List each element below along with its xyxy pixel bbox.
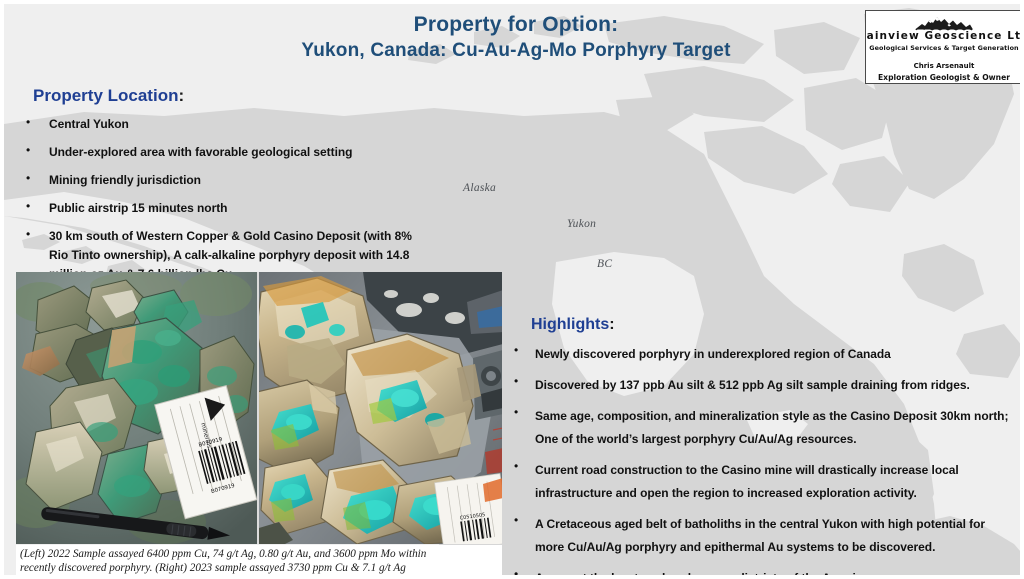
list-item-label: Mining friendly jurisdiction: [49, 171, 426, 190]
highlights-list: • Newly discovered porphyry in underexpl…: [514, 343, 1014, 579]
bullet-icon: •: [514, 567, 526, 579]
list-item: • Newly discovered porphyry in underexpl…: [514, 343, 1014, 366]
list-item-label: Under-explored area with favorable geolo…: [49, 143, 426, 162]
bullet-icon: •: [514, 459, 526, 473]
rock-sample-photo-left: minerals B070919 B070919: [16, 272, 257, 544]
list-item: • Under-explored area with favorable geo…: [26, 143, 426, 162]
list-item-label: Central Yukon: [49, 115, 426, 134]
list-item-label: Same age, composition, and mineralizatio…: [535, 405, 1014, 451]
rock-sample-photo-right: C0510505: [259, 272, 502, 544]
list-item-label: Newly discovered porphyry in underexplor…: [535, 343, 1014, 366]
bullet-icon: •: [514, 374, 526, 388]
heading-highlights-colon: :: [609, 316, 614, 333]
bullet-icon: •: [514, 513, 526, 527]
company-logo: Plainview Geoscience Ltd. Geological Ser…: [865, 10, 1023, 84]
photo-caption-line-2: recently discovered porphyry. (Right) 20…: [20, 561, 500, 575]
logo-person-name: Chris Arsenault: [914, 61, 975, 72]
list-item: • A Cretaceous aged belt of batholiths i…: [514, 513, 1014, 559]
heading-highlights: Highlights:: [531, 316, 615, 334]
list-item-label: Current road construction to the Casino …: [535, 459, 1014, 505]
photo-caption-line-1: (Left) 2022 Sample assayed 6400 ppm Cu, …: [20, 547, 500, 561]
photo-strip: minerals B070919 B070919: [16, 272, 502, 544]
bullet-icon: •: [514, 343, 526, 357]
list-item: • Current road construction to the Casin…: [514, 459, 1014, 505]
mountain-range-icon: [897, 14, 991, 31]
heading-property-location-colon: :: [178, 86, 184, 105]
list-item-label: Public airstrip 15 minutes north: [49, 199, 426, 218]
list-item: • Central Yukon: [26, 115, 426, 134]
bullet-icon: •: [26, 171, 38, 185]
map-label-bc: BC: [597, 258, 612, 270]
logo-tagline: Geological Services & Target Generation: [869, 43, 1018, 54]
bullet-icon: •: [26, 227, 38, 241]
list-item-label: Discovered by 137 ppb Au silt & 512 ppb …: [535, 374, 1014, 397]
heading-property-location: Property Location:: [33, 86, 184, 106]
list-item: • Mining friendly jurisdiction: [26, 171, 426, 190]
photo-caption: (Left) 2022 Sample assayed 6400 ppm Cu, …: [16, 545, 502, 577]
property-location-list: • Central Yukon • Under-explored area wi…: [26, 115, 426, 293]
list-item: • Public airstrip 15 minutes north: [26, 199, 426, 218]
bullet-icon: •: [26, 115, 38, 129]
bullet-icon: •: [26, 143, 38, 157]
list-item: • Discovered by 137 ppb Au silt & 512 pp…: [514, 374, 1014, 397]
list-item: • Amongst the least explored copper dist…: [514, 567, 1014, 579]
logo-person-role: Exploration Geologist & Owner: [878, 72, 1010, 83]
list-item-label: Amongst the least explored copper distri…: [535, 567, 1014, 579]
list-item-label: A Cretaceous aged belt of batholiths in …: [535, 513, 1014, 559]
bullet-icon: •: [514, 405, 526, 419]
list-item: • Same age, composition, and mineralizat…: [514, 405, 1014, 451]
logo-company-name: Plainview Geoscience Ltd.: [865, 30, 1023, 43]
map-label-yukon: Yukon: [567, 218, 596, 230]
map-label-alaska: Alaska: [463, 182, 496, 194]
bullet-icon: •: [26, 199, 38, 213]
heading-property-location-text: Property Location: [33, 86, 178, 105]
slide-canvas: Alaska Yukon BC Property for Option: Yuk…: [0, 0, 1024, 579]
heading-highlights-text: Highlights: [531, 316, 609, 333]
